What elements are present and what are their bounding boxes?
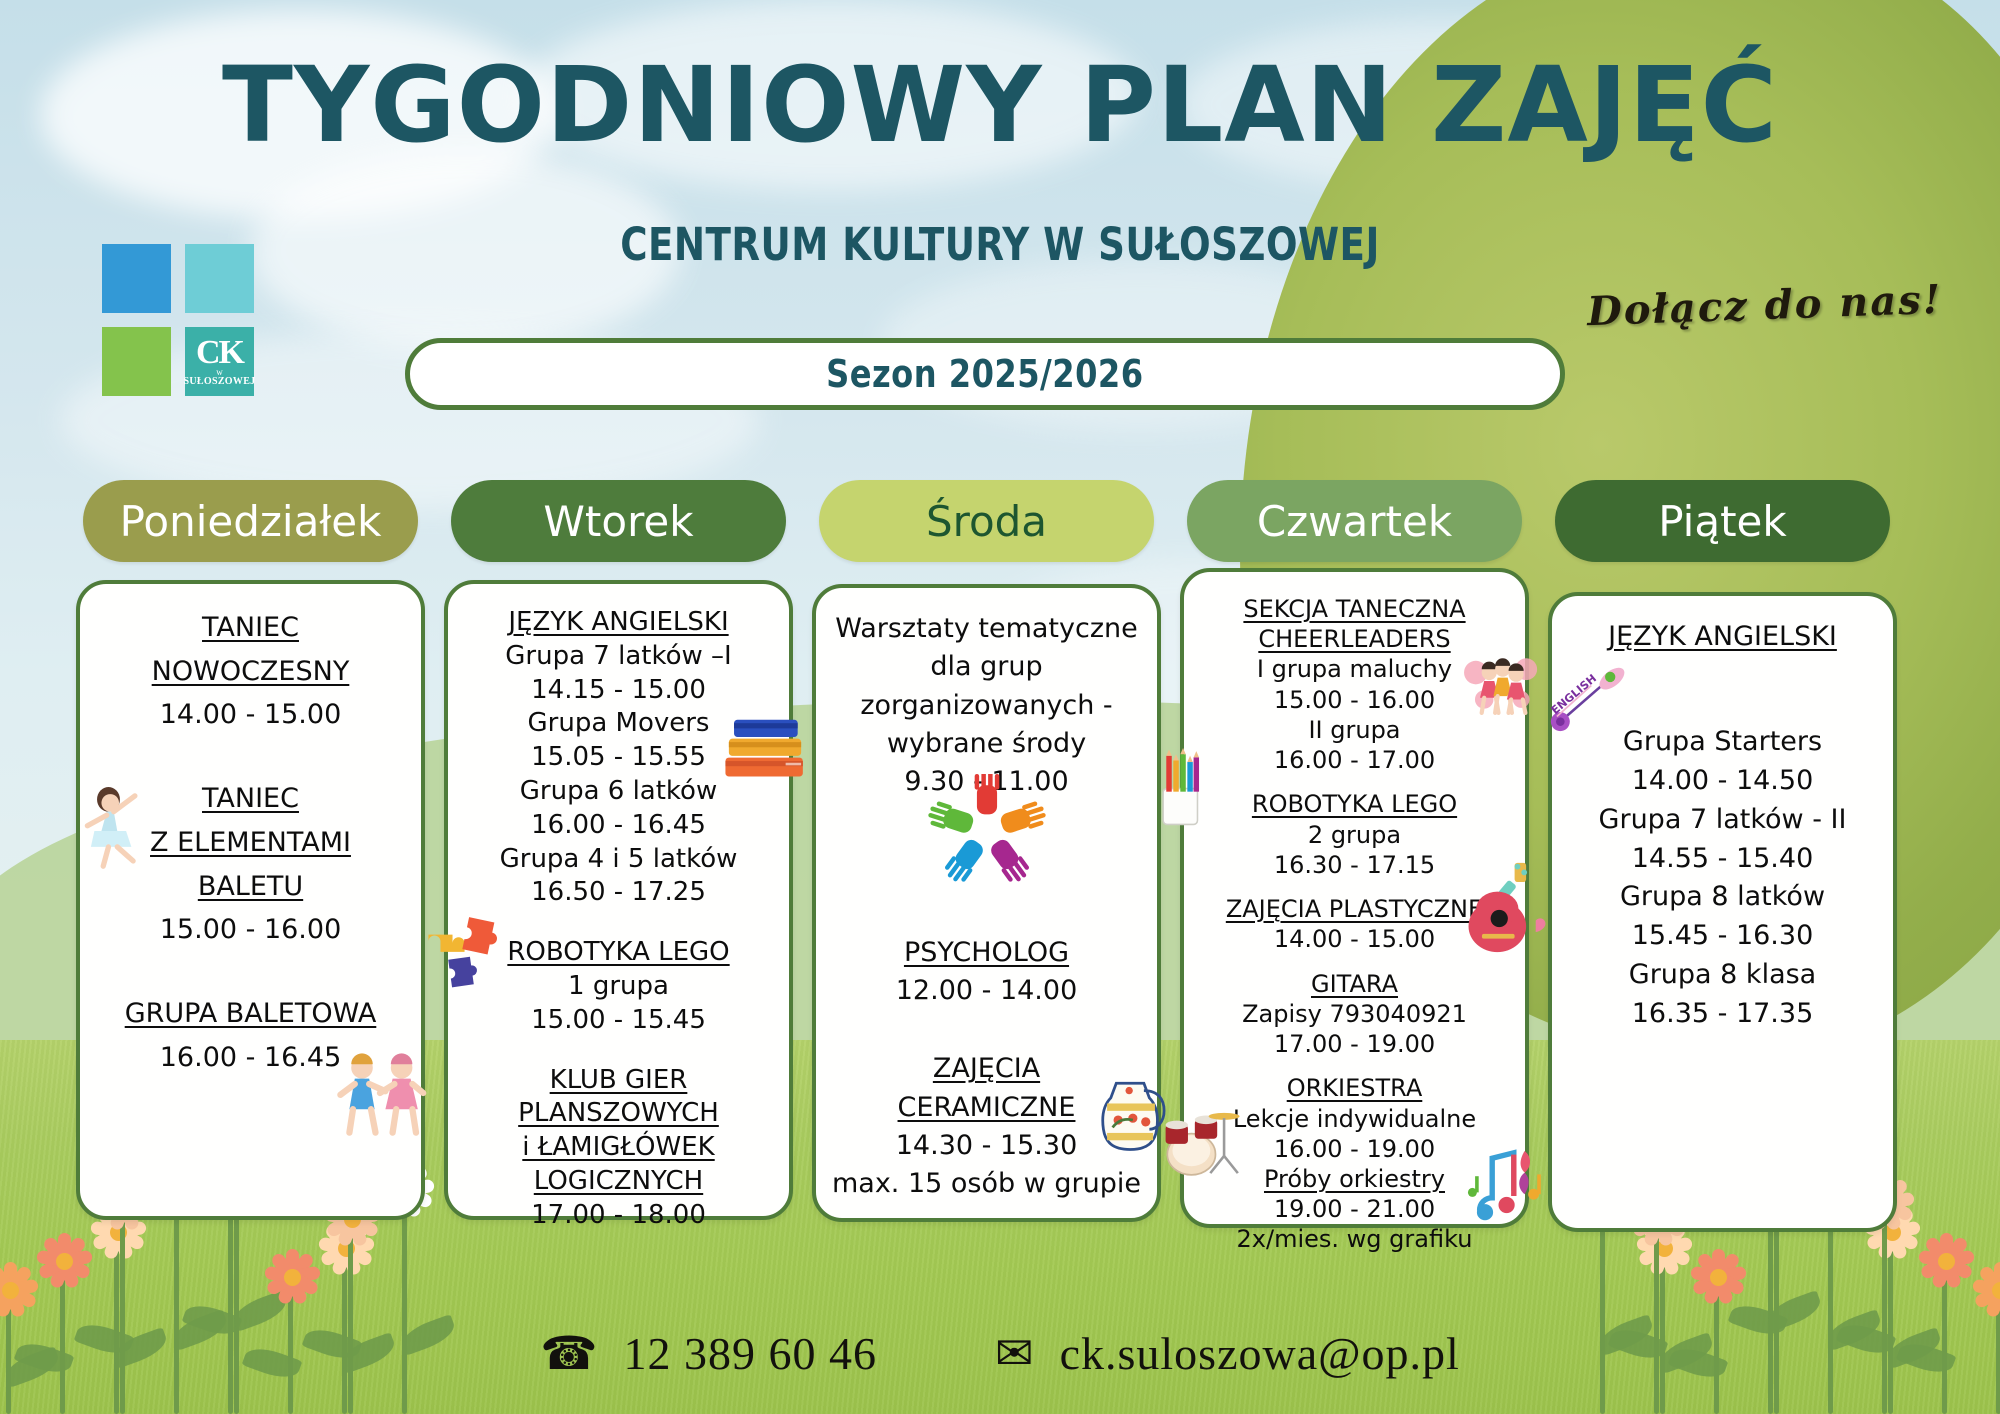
activity-detail: Grupa 7 latków –I: [462, 640, 775, 674]
activity-detail: Grupa Starters: [1566, 723, 1879, 762]
activity-detail: Grupa 6 latków: [462, 775, 775, 809]
activity-detail: Grupa 4 i 5 latków: [462, 843, 775, 877]
activity-detail: 16.00 - 17.00: [1198, 745, 1511, 775]
activity-title: Próby orkiestry: [1198, 1164, 1511, 1194]
logo-square-blue: [102, 244, 171, 313]
activity-title: i ŁAMIGŁÓWEK: [462, 1131, 775, 1165]
activity-title: PSYCHOLOG: [830, 934, 1143, 972]
activity-detail: 15.00 - 16.00: [1198, 685, 1511, 715]
activity-title: ROBOTYKA LEGO: [1198, 789, 1511, 819]
day-card-thu: SEKCJA TANECZNACHEERLEADERSI grupa maluc…: [1180, 568, 1529, 1228]
day-card-tue: JĘZYK ANGIELSKIGrupa 7 latków –I14.15 - …: [444, 580, 793, 1220]
day-header-mon[interactable]: Poniedziałek: [83, 480, 418, 562]
activity-detail: 14.00 - 15.00: [94, 693, 407, 737]
activity-detail: 16.00 - 16.45: [462, 809, 775, 843]
spacer: [94, 952, 407, 992]
activity-detail: 14.00 - 14.50: [1566, 762, 1879, 801]
activity-detail: 9.30 - 11.00: [830, 763, 1143, 801]
page-subtitle: CENTRUM KULTURY W SUŁOSZOWEJ: [80, 218, 1920, 271]
logo-square-lightteal: [185, 244, 254, 313]
activity-detail: 17.00 - 19.00: [1198, 1029, 1511, 1059]
spacer: [830, 1010, 1143, 1050]
spacer: [94, 737, 407, 777]
activity-detail: 15.00 - 16.00: [94, 908, 407, 952]
activity-detail: Lekcje indywidualne: [1198, 1104, 1511, 1134]
activity-title: GRUPA BALETOWA: [94, 992, 407, 1036]
activity-detail: 16.00 - 16.45: [94, 1036, 407, 1080]
join-us-text: Dołącz do nas!: [1586, 276, 1943, 335]
spacer: [1198, 880, 1511, 894]
activity-detail: 2x/mies. wg grafiku: [1198, 1224, 1511, 1254]
activity-detail: 12.00 - 14.00: [830, 972, 1143, 1010]
activity-detail: 15.05 - 15.55: [462, 741, 775, 775]
activity-detail: Grupa 8 latków: [1566, 878, 1879, 917]
activity-title: ZAJĘCIA: [830, 1050, 1143, 1088]
logo-text: CK w SUŁOSZOWEJ: [185, 327, 254, 396]
activity-title: JĘZYK ANGIELSKI: [462, 606, 775, 640]
activity-detail: max. 15 osób w grupie: [830, 1165, 1143, 1203]
day-header-fri[interactable]: Piątek: [1555, 480, 1890, 562]
activity-title: TANIEC: [94, 606, 407, 650]
season-banner: Sezon 2025/2026: [405, 338, 1565, 410]
activity-detail: 14.15 - 15.00: [462, 674, 775, 708]
activity-detail: Zapisy 793040921: [1198, 999, 1511, 1029]
activity-detail: 14.00 - 15.00: [1198, 924, 1511, 954]
spacer: [1566, 657, 1879, 697]
activity-detail: 16.30 - 17.15: [1198, 850, 1511, 880]
activity-title: BALETU: [94, 865, 407, 909]
activity-detail: 15.00 - 15.45: [462, 1004, 775, 1038]
activity-detail: 1 grupa: [462, 970, 775, 1004]
spacer: [1566, 697, 1879, 723]
day-header-tue[interactable]: Wtorek: [451, 480, 786, 562]
activity-title: PLANSZOWYCH: [462, 1097, 775, 1131]
activity-detail: zorganizowanych -: [830, 687, 1143, 725]
phone-contact[interactable]: ☎ 12 389 60 46: [540, 1327, 877, 1380]
day-header-wed[interactable]: Środa: [819, 480, 1154, 562]
activity-detail: II grupa: [1198, 715, 1511, 745]
day-card-fri: JĘZYK ANGIELSKIGrupa Starters14.00 - 14.…: [1548, 592, 1897, 1232]
spacer-art: [830, 802, 1143, 934]
activity-title: ORKIESTRA: [1198, 1073, 1511, 1103]
day-card-wed: Warsztaty tematycznedla grupzorganizowan…: [812, 584, 1161, 1222]
activity-title: SEKCJA TANECZNA: [1198, 594, 1511, 624]
activity-title: CHEERLEADERS: [1198, 624, 1511, 654]
spacer: [462, 1038, 775, 1064]
spacer: [1198, 955, 1511, 969]
activity-title: CERAMICZNE: [830, 1089, 1143, 1127]
day-column-wed: ŚrodaWarsztaty tematycznedla grupzorgani…: [812, 480, 1161, 1232]
contact-footer: ☎ 12 389 60 46 ✉ ck.suloszowa@op.pl: [0, 1327, 2000, 1380]
email-contact[interactable]: ✉ ck.suloszowa@op.pl: [995, 1327, 1460, 1380]
activity-detail: wybrane środy: [830, 725, 1143, 763]
day-column-fri: PiątekJĘZYK ANGIELSKIGrupa Starters14.00…: [1548, 480, 1897, 1232]
activity-detail: 16.00 - 19.00: [1198, 1134, 1511, 1164]
activity-detail: Grupa 8 klasa: [1566, 956, 1879, 995]
activity-detail: dla grup: [830, 648, 1143, 686]
schedule-grid: PoniedziałekTANIECNOWOCZESNY14.00 - 15.0…: [76, 480, 1936, 1232]
activity-detail: 14.55 - 15.40: [1566, 840, 1879, 879]
phone-number: 12 389 60 46: [624, 1327, 878, 1380]
activity-detail: 19.00 - 21.00: [1198, 1194, 1511, 1224]
page-title: TYGODNIOWY PLAN ZAJĘĆ: [0, 52, 2000, 158]
spacer: [462, 910, 775, 936]
logo-town: SUŁOSZOWEJ: [184, 377, 256, 387]
activity-title: Z ELEMENTAMI: [94, 821, 407, 865]
logo-square-green: [102, 327, 171, 396]
activity-title: ZAJĘCIA PLASTYCZNE: [1198, 894, 1511, 924]
day-header-thu[interactable]: Czwartek: [1187, 480, 1522, 562]
day-column-tue: WtorekJĘZYK ANGIELSKIGrupa 7 latków –I14…: [444, 480, 793, 1232]
activity-detail: 16.35 - 17.35: [1566, 995, 1879, 1034]
activity-detail: 14.30 - 15.30: [830, 1127, 1143, 1165]
activity-detail: 17.00 - 18.00: [462, 1199, 775, 1233]
ck-logo: CK w SUŁOSZOWEJ: [102, 244, 254, 396]
activity-detail: Grupa 7 latków - II: [1566, 801, 1879, 840]
activity-title: ROBOTYKA LEGO: [462, 936, 775, 970]
spacer: [1198, 1059, 1511, 1073]
telephone-icon: ☎: [540, 1331, 597, 1377]
activity-title: KLUB GIER: [462, 1064, 775, 1098]
email-address: ck.suloszowa@op.pl: [1060, 1327, 1460, 1380]
activity-detail: I grupa maluchy: [1198, 654, 1511, 684]
logo-mark: CK: [196, 336, 243, 370]
day-card-mon: TANIECNOWOCZESNY14.00 - 15.00TANIECZ ELE…: [76, 580, 425, 1220]
activity-detail: Warsztaty tematyczne: [830, 610, 1143, 648]
activity-title: NOWOCZESNY: [94, 650, 407, 694]
activity-title: JĘZYK ANGIELSKI: [1566, 618, 1879, 657]
activity-title: GITARA: [1198, 969, 1511, 999]
activity-detail: 15.45 - 16.30: [1566, 917, 1879, 956]
spacer: [1198, 775, 1511, 789]
activity-detail: 2 grupa: [1198, 820, 1511, 850]
activity-title: LOGICZNYCH: [462, 1165, 775, 1199]
day-column-mon: PoniedziałekTANIECNOWOCZESNY14.00 - 15.0…: [76, 480, 425, 1232]
activity-detail: Grupa Movers: [462, 707, 775, 741]
day-column-thu: CzwartekSEKCJA TANECZNACHEERLEADERSI gru…: [1180, 480, 1529, 1232]
activity-title: TANIEC: [94, 777, 407, 821]
envelope-icon: ✉: [995, 1331, 1034, 1377]
activity-detail: 16.50 - 17.25: [462, 876, 775, 910]
season-label: Sezon 2025/2026: [826, 352, 1143, 396]
